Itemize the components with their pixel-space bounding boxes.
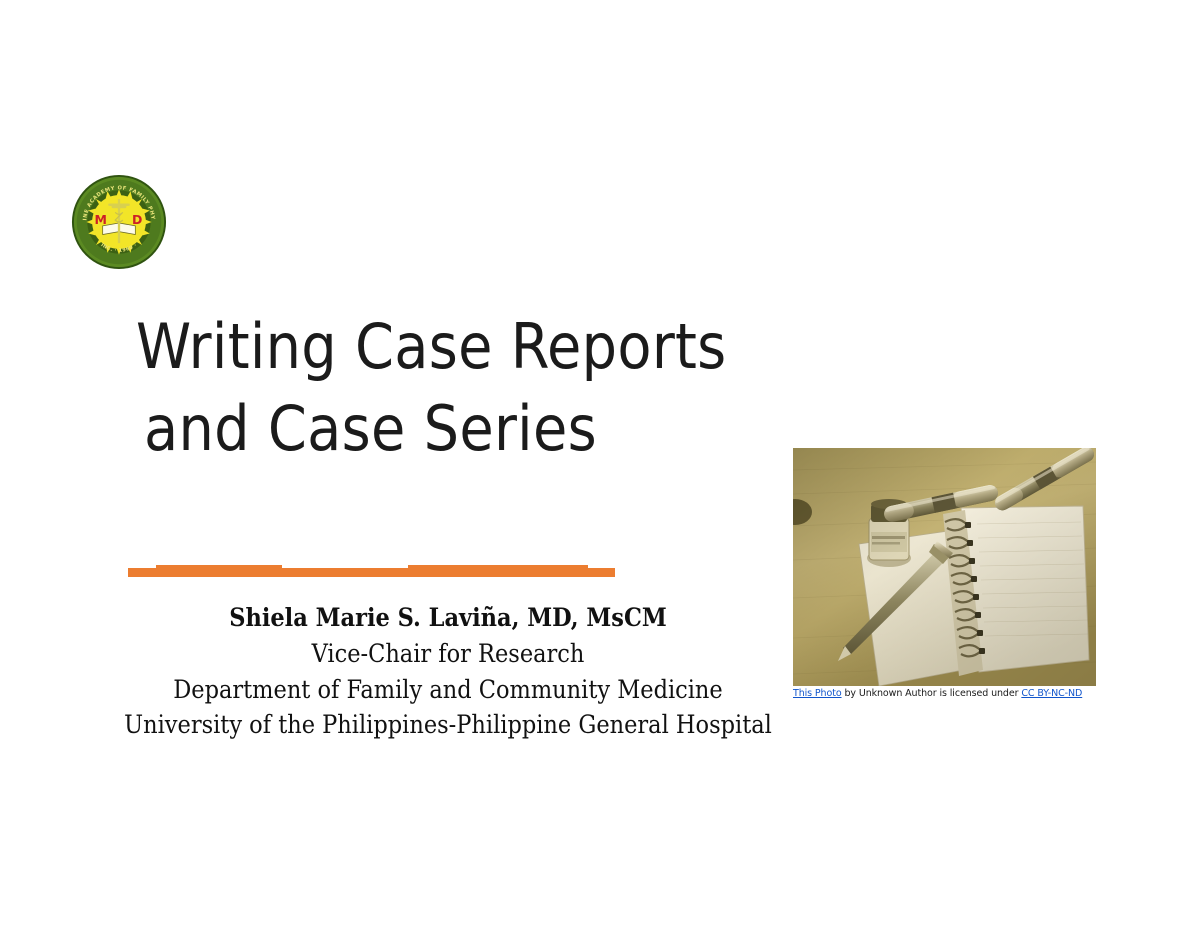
presentation-slide: M D PHILIPPINE ACADEMY OF FAMILY PHYSICI… [0,0,1200,927]
presenter-role: Vice-Chair for Research [118,636,778,672]
svg-text:M: M [95,212,107,227]
cc-license-link[interactable]: CC BY-NC-ND [1021,688,1082,699]
slide-title: Writing Case Reports and Case Series [136,306,836,471]
slide-title-line-1: Writing Case Reports [136,306,836,388]
photo-attribution: This Photo by Unknown Author is licensed… [793,688,1103,700]
slide-subtitle: Shiela Marie S. Laviña, MD, MsCM Vice-Ch… [118,600,778,743]
accent-divider-bar [128,568,615,577]
this-photo-link[interactable]: This Photo [793,688,842,699]
attribution-middle-text: by Unknown Author is licensed under [842,688,1022,699]
svg-text:D: D [132,212,142,227]
philippine-academy-of-family-physicians-logo: M D PHILIPPINE ACADEMY OF FAMILY PHYSICI… [71,174,167,270]
presenter-institution: University of the Philippines-Philippine… [118,707,778,743]
presenter-name: Shiela Marie S. Laviña, MD, MsCM [118,600,778,636]
notebook-pens-ink-photo [793,448,1096,686]
slide-title-line-2: and Case Series [136,388,836,470]
presenter-department: Department of Family and Community Medic… [118,672,778,708]
photo-container: This Photo by Unknown Author is licensed… [793,448,1096,686]
